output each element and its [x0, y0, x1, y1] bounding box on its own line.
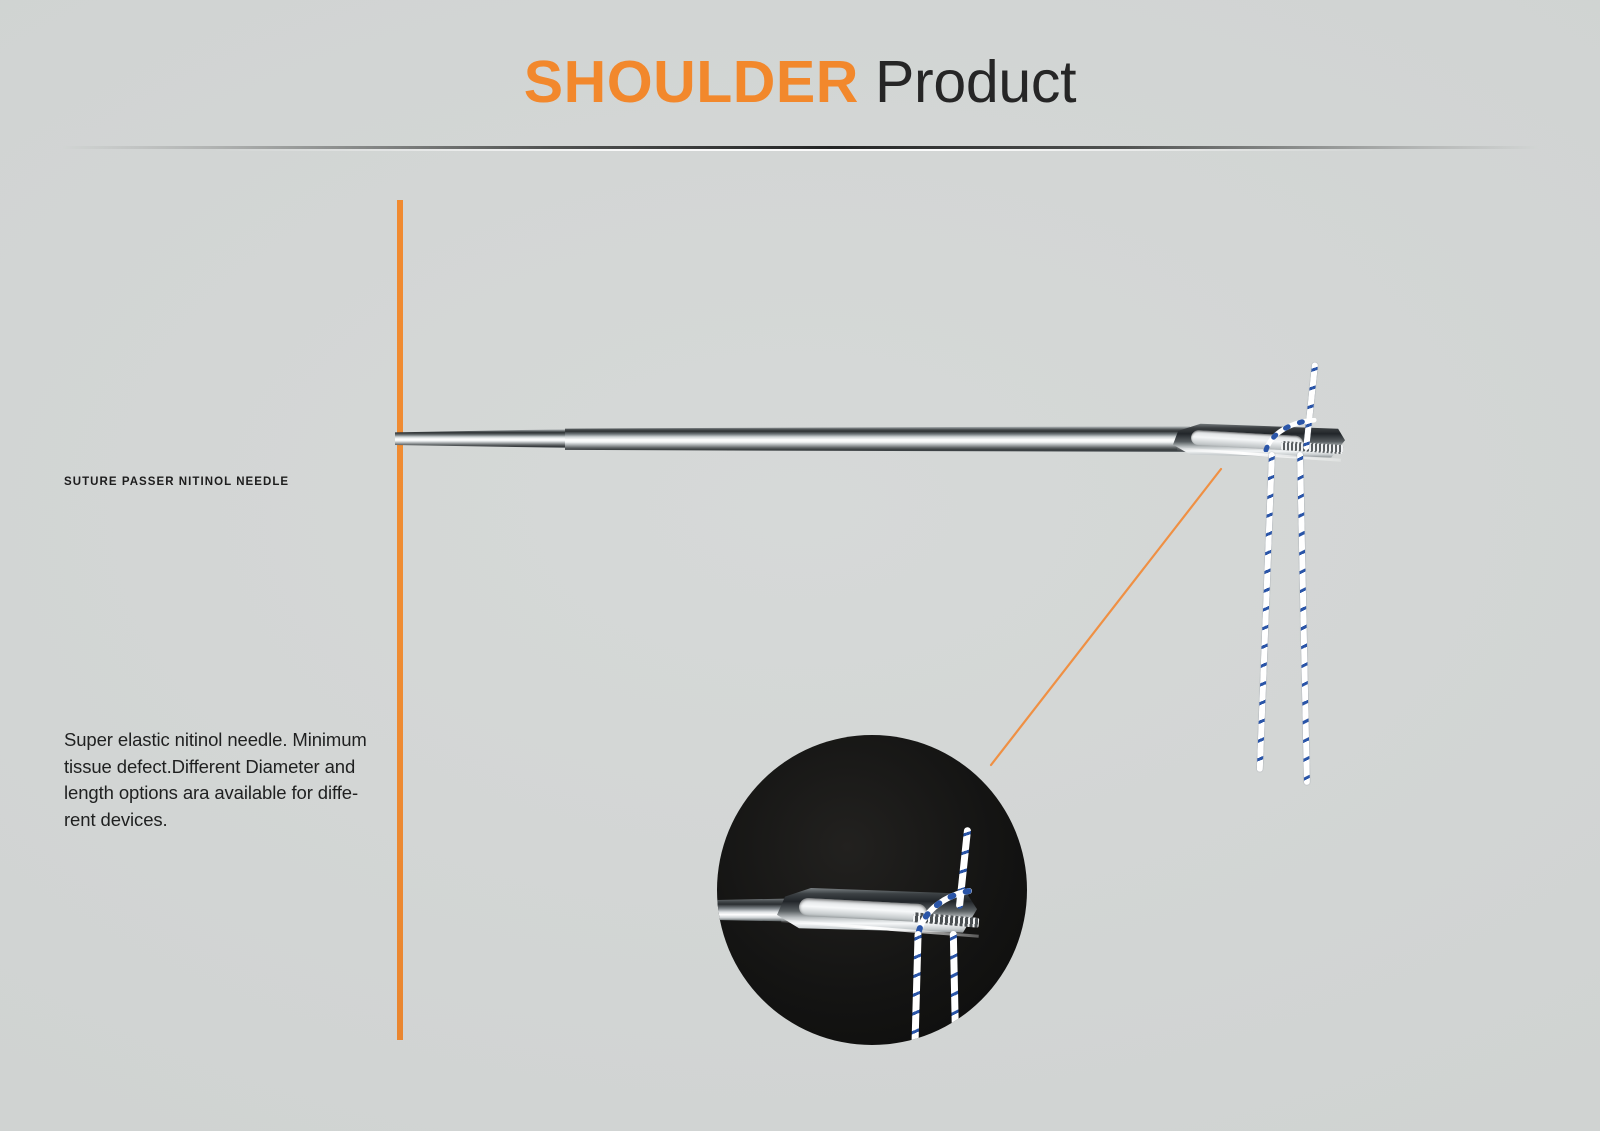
suture-thread-loop-icon	[1262, 418, 1320, 452]
needle-shaft-near-icon	[565, 426, 1190, 452]
page-title: SHOULDER Product	[0, 52, 1600, 114]
vertical-accent-rule	[397, 200, 403, 1040]
product-label: SUTURE PASSER NITINOL NEEDLE	[64, 476, 289, 488]
needle-illustration	[395, 405, 1345, 475]
header-divider-gloss	[210, 149, 1391, 151]
product-description: Super elastic nitinol needle. Minimum ti…	[64, 727, 386, 833]
magnified-suture-loop-icon	[913, 887, 977, 935]
suture-thread-icon-lower-right	[1297, 452, 1310, 785]
magnified-suture-thread-lower-right	[950, 931, 959, 1045]
header-divider	[62, 146, 1538, 151]
page-title-rest: Product	[859, 49, 1076, 115]
needle-shaft-far-icon	[395, 429, 575, 448]
callout-leader-line-icon	[985, 465, 1225, 770]
suture-thread-icon-lower-left	[1257, 452, 1275, 772]
magnified-detail-circle	[717, 735, 1027, 1045]
page-title-accent: SHOULDER	[524, 49, 859, 115]
product-showcase-page: SHOULDER Product SUTURE PASSER NITINOL N…	[0, 0, 1600, 1131]
magnified-suture-thread-lower-left	[911, 931, 921, 1045]
